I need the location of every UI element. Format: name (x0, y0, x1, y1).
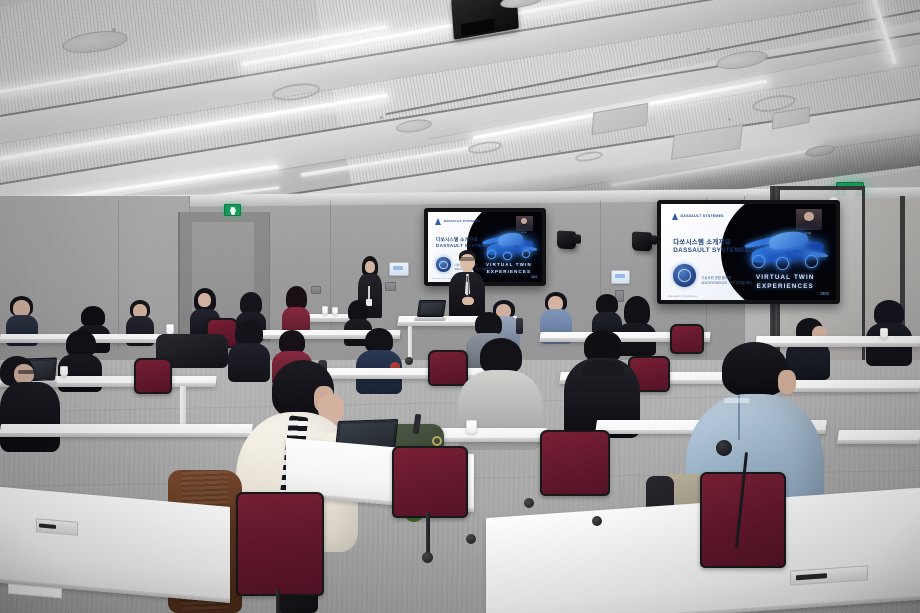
vehicle-wheel (487, 250, 496, 259)
exit-runner-glyph (230, 207, 236, 215)
wall-seam (330, 200, 331, 330)
torso (0, 382, 60, 452)
thumb-head (804, 212, 813, 220)
head (198, 293, 211, 307)
chair-post (276, 590, 280, 613)
desk-leg (408, 326, 412, 360)
paper-cup[interactable] (332, 307, 338, 315)
slide-corner-mark: 3DS (820, 291, 829, 296)
slide-presenter-thumbnail (796, 209, 822, 230)
paper-cup[interactable] (322, 306, 328, 315)
dassault-logo: DASSAULT SYSTEMES (672, 213, 724, 220)
sprinkler-head (728, 118, 731, 121)
hair (480, 338, 522, 374)
slide-badge-icon (673, 264, 696, 287)
wall-seam (118, 200, 119, 350)
chair-back (134, 358, 172, 394)
hair (624, 296, 650, 326)
logo-mark-icon (672, 213, 678, 220)
sprinkler-head (380, 116, 383, 119)
attendee (866, 300, 912, 366)
chair-caster (524, 498, 534, 508)
slide-title: 다쏘시스템 소개자료 DASSAULT SYSTEMES (673, 239, 749, 256)
dassault-logo: DASSAULT SYSTEMES (435, 218, 481, 225)
chair-back (540, 430, 610, 496)
vehicle-wheel (522, 250, 531, 259)
av-control-panel[interactable] (389, 262, 409, 276)
desk-edge (837, 440, 920, 444)
logo-mark-icon (435, 218, 441, 225)
head (14, 364, 34, 384)
chair-back (236, 492, 324, 596)
exit-sign-icon (224, 204, 241, 216)
wall-speaker (557, 231, 576, 250)
thumb-head (521, 218, 527, 224)
chair-caster (422, 552, 433, 563)
wall-speaker (632, 231, 652, 251)
light-switch[interactable] (385, 282, 396, 291)
slide-corner-mark: 3DS (531, 275, 538, 279)
presenter-laptop[interactable] (417, 300, 446, 317)
collar (724, 398, 750, 403)
light-switch[interactable] (311, 286, 321, 294)
desk (837, 430, 920, 444)
desk (0, 424, 253, 437)
hands (462, 297, 474, 305)
eyeglasses (18, 370, 36, 374)
right-display[interactable]: DASSAULT SYSTEMES 다쏘시스템 소개자료 DASSAULT SY… (657, 200, 840, 304)
desk-caster (405, 357, 413, 365)
logo-text: DASSAULT SYSTEMES (681, 214, 724, 218)
logo-text: DASSAULT SYSTEMES (444, 220, 481, 223)
lanyard (466, 282, 468, 295)
slide-tagline: VIRTUAL TWIN EXPERIENCES (745, 273, 826, 292)
sprinkler-head (706, 48, 710, 52)
wireframe-vehicle-graphic (749, 229, 826, 269)
vehicle-wheel (805, 255, 818, 268)
laptop-base (415, 317, 446, 321)
desk-edge (0, 433, 252, 437)
laptop-lid (417, 300, 446, 317)
hair (66, 330, 96, 357)
ear (778, 370, 796, 394)
chair-back (392, 446, 468, 518)
slide-footer: Dassault Systemes (668, 294, 697, 298)
vehicle-wheel (503, 252, 512, 261)
attendee (0, 356, 60, 452)
bag-clasp (432, 436, 442, 446)
vehicle-wheel (752, 255, 765, 268)
sprinkler-head (112, 28, 116, 32)
attendee (356, 328, 402, 394)
ceiling (0, 0, 920, 212)
chair[interactable] (392, 446, 468, 518)
paper-cup[interactable] (60, 366, 68, 377)
lanyard (368, 286, 370, 300)
paper-cup[interactable] (466, 420, 477, 434)
av-control-panel[interactable] (611, 270, 630, 284)
eyeglasses (460, 257, 475, 261)
vehicle-wheel (776, 257, 789, 270)
attendee (282, 286, 310, 336)
head (365, 261, 375, 273)
wireframe-vehicle-graphic (485, 230, 535, 259)
chair[interactable] (540, 430, 610, 496)
paper-cup[interactable] (880, 328, 888, 339)
hair (81, 306, 105, 327)
sprinkler-head (558, 150, 561, 153)
hood (582, 360, 624, 376)
chair[interactable] (236, 492, 324, 596)
chair-caster (592, 516, 602, 526)
slide-presenter-thumbnail (516, 216, 533, 231)
hair (596, 294, 618, 314)
chair-caster (466, 534, 476, 544)
slide-tagline: VIRTUAL TWIN EXPERIENCES (483, 262, 535, 275)
thermos-flask[interactable] (516, 318, 523, 334)
seminar-room-photo: DASSAULT SYSTEMES 다쏘시스템 소개자료 DASSAULT SY… (0, 0, 920, 613)
cable-weight (716, 440, 732, 456)
chair[interactable] (134, 358, 172, 394)
presentation-slide: DASSAULT SYSTEMES 다쏘시스템 소개자료 DASSAULT SY… (661, 204, 836, 300)
